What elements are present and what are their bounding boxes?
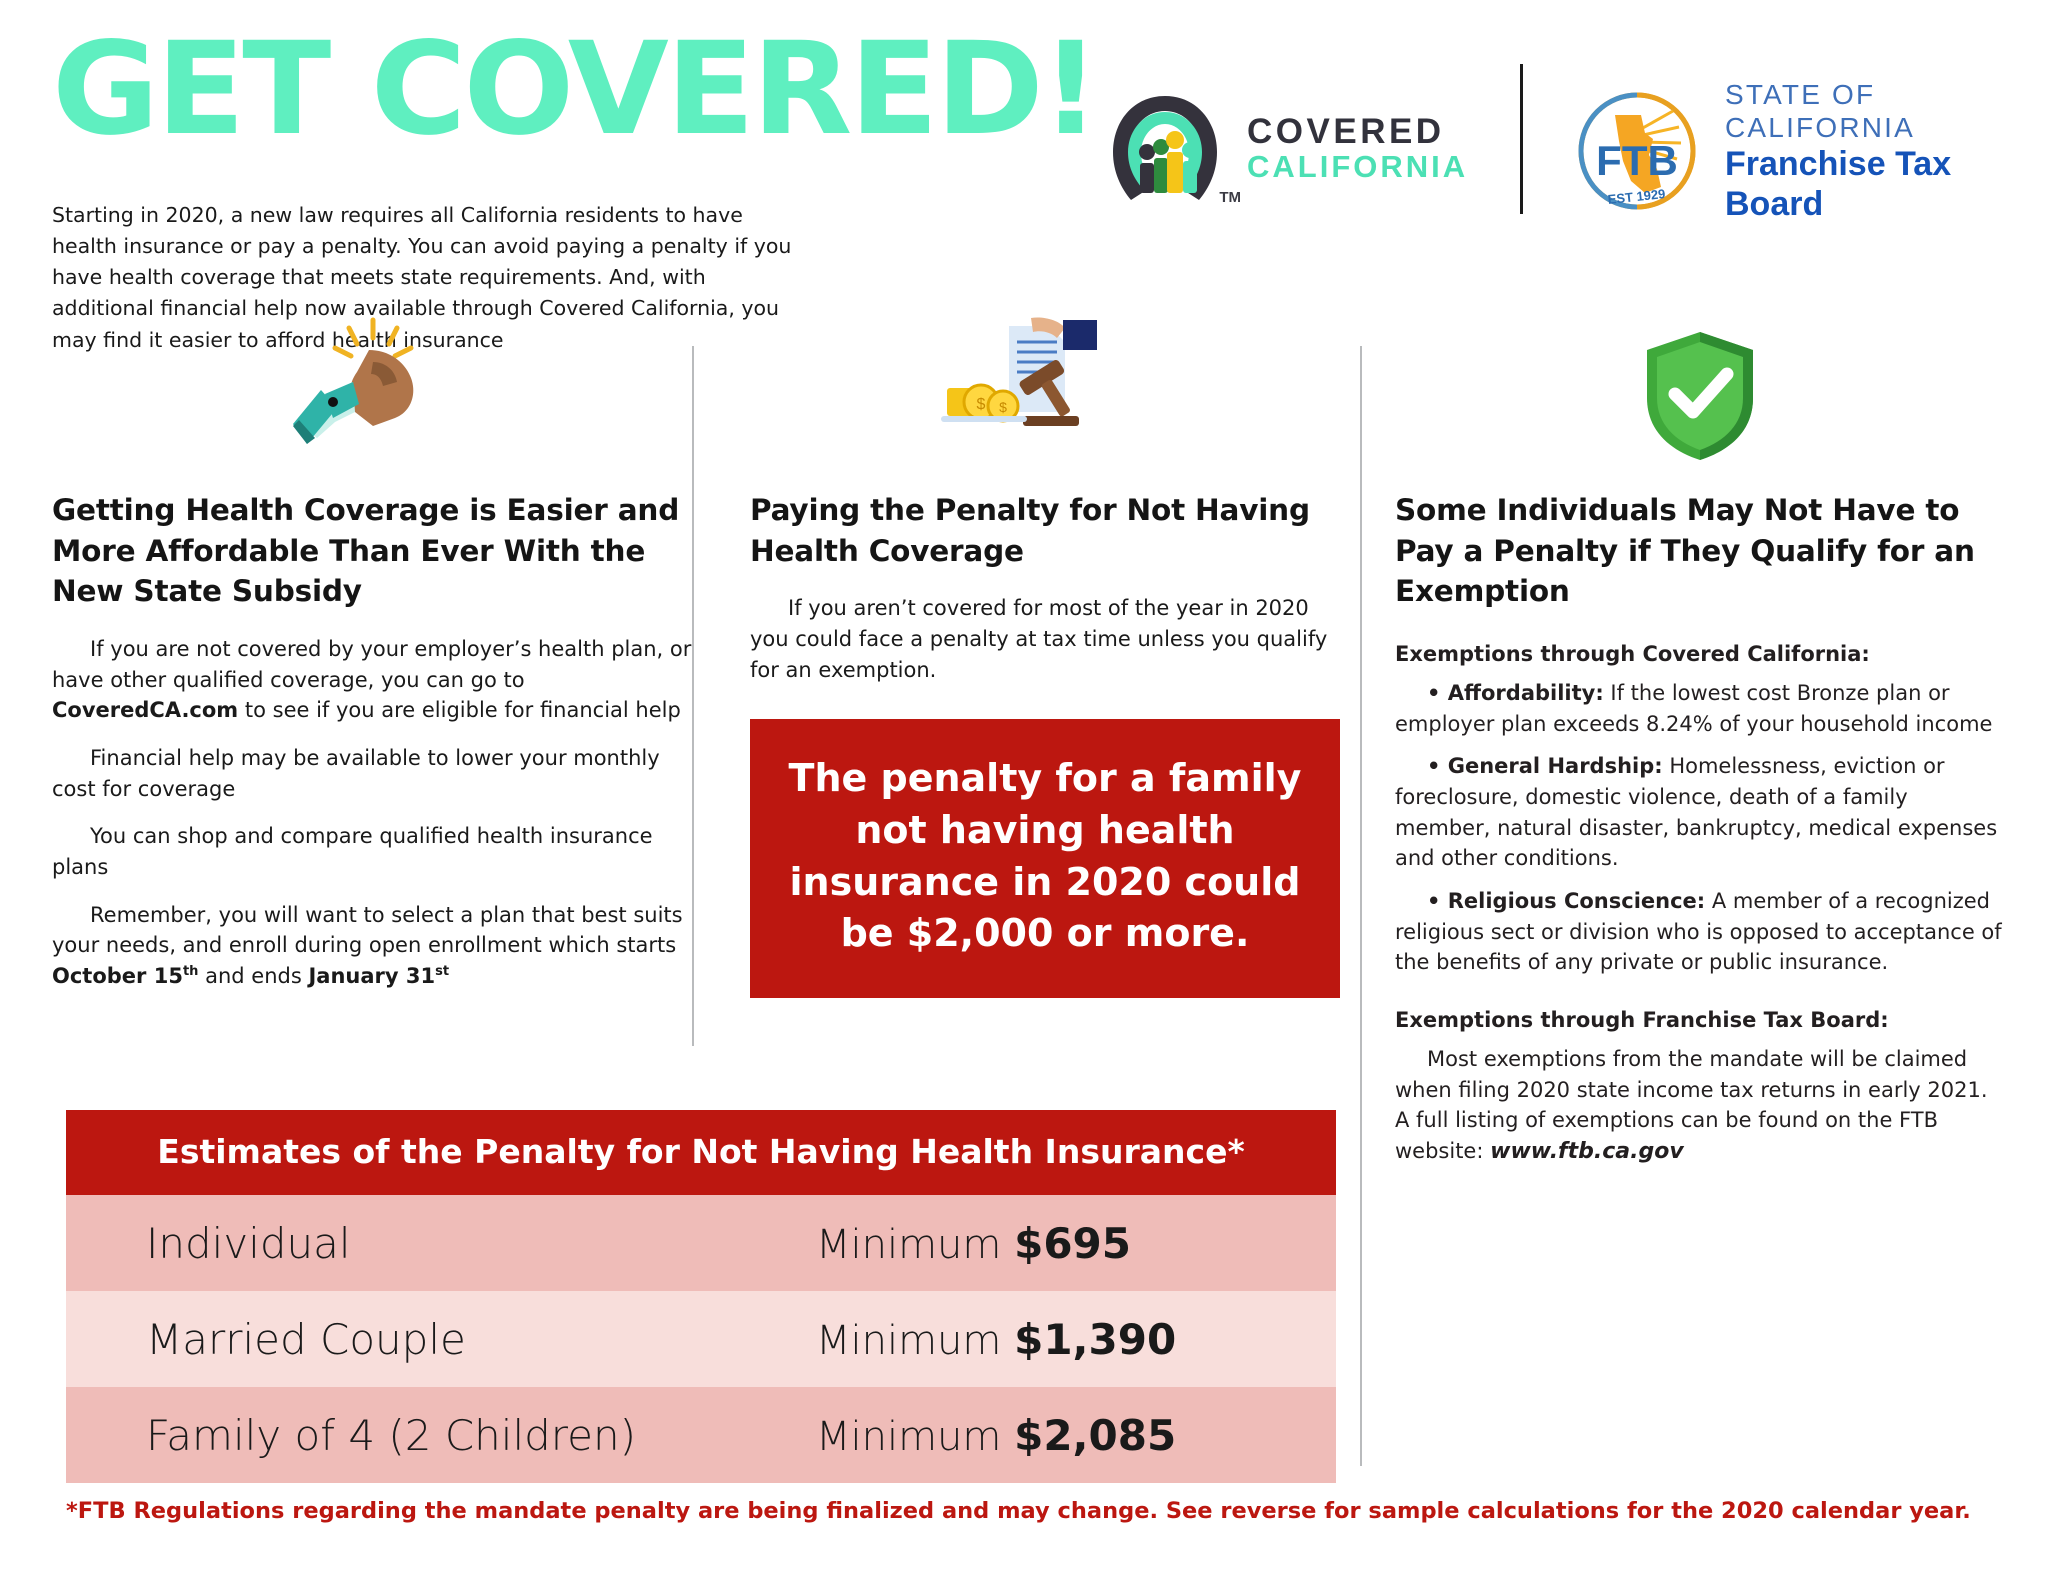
exemption-bullet: • Affordability: If the lowest cost Bron… [1395, 678, 2005, 739]
covered-california-wordmark: COVERED CALIFORNIA [1247, 114, 1468, 183]
table-cell-amount: Minimum $1,390 [816, 1315, 1176, 1364]
covered-california-logo: TM COVERED CALIFORNIA [1105, 60, 1468, 208]
exemption-bullet-label: • Religious Conscience: [1427, 889, 1705, 913]
table-row: IndividualMinimum $695 [66, 1195, 1336, 1291]
footnote: *FTB Regulations regarding the mandate p… [66, 1498, 1996, 1524]
column-coverage: Getting Health Coverage is Easier and Mo… [52, 306, 692, 992]
cc-wordmark-line2: CALIFORNIA [1247, 151, 1468, 184]
exemption-section-title: Exemptions through Covered California: [1395, 642, 2005, 666]
franchise-tax-board-logo: FTB EST 1929 STATE OF CALIFORNIA Franchi… [1575, 60, 2048, 224]
callout-line: The penalty for a family [780, 753, 1310, 805]
ftb-wordmark-line2: Franchise Tax Board [1725, 144, 2048, 224]
page-title: GET COVERED! [52, 26, 1097, 154]
body-paragraph: If you are not covered by your employer’… [52, 634, 692, 726]
ftb-wordmark-line1: STATE OF CALIFORNIA [1725, 78, 2048, 144]
exemption-section-ftb: Exemptions through Franchise Tax Board: … [1395, 1008, 2005, 1168]
exemption-bullet-label: • Affordability: [1427, 681, 1604, 705]
table-cell-category: Family of 4 (2 Children) [146, 1411, 816, 1460]
ftb-website-link[interactable]: www.ftb.ca.gov [1490, 1139, 1684, 1164]
callout-line: insurance in 2020 could [780, 857, 1310, 909]
gavel-money-document-icon: $ $ [750, 306, 1340, 466]
column-heading: Paying the Penalty for Not Having Health… [750, 490, 1340, 571]
callout-line: not having health [780, 805, 1310, 857]
amount-value: $1,390 [1014, 1315, 1176, 1364]
column-body: If you are not covered by your employer’… [52, 634, 692, 992]
column-divider-1 [692, 346, 694, 1046]
svg-text:FTB: FTB [1596, 137, 1678, 184]
table-row: Family of 4 (2 Children)Minimum $2,085 [66, 1387, 1336, 1483]
covered-california-mark-icon: TM [1105, 90, 1225, 208]
exemption-bullet: • Religious Conscience: A member of a re… [1395, 886, 2005, 978]
table-title: Estimates of the Penalty for Not Having … [66, 1110, 1336, 1195]
exemption-ftb-text: Most exemptions from the mandate will be… [1395, 1047, 1988, 1163]
column-exemptions: Some Individuals May Not Have to Pay a P… [1395, 306, 2005, 1168]
svg-text:$: $ [999, 399, 1007, 415]
table-cell-category: Individual [146, 1219, 816, 1268]
exemption-section-covered-california: Exemptions through Covered California: •… [1395, 642, 2005, 978]
trademark-label: TM [1219, 189, 1241, 206]
logo-divider [1520, 64, 1523, 214]
shield-check-icon [1395, 306, 2005, 466]
penalty-callout-lines: The penalty for a familynot having healt… [780, 753, 1310, 960]
penalty-estimates-table: Estimates of the Penalty for Not Having … [66, 1110, 1336, 1483]
table-cell-amount: Minimum $2,085 [816, 1411, 1176, 1460]
exemption-bullet: • General Hardship: Homelessness, evicti… [1395, 751, 2005, 874]
table-row: Married CoupleMinimum $1,390 [66, 1291, 1336, 1387]
column-heading: Getting Health Coverage is Easier and Mo… [52, 490, 692, 612]
penalty-callout-box: The penalty for a familynot having healt… [750, 719, 1340, 998]
amount-prefix: Minimum [816, 1414, 1014, 1460]
table-cell-amount: Minimum $695 [816, 1219, 1131, 1268]
table-body: IndividualMinimum $695Married CoupleMini… [66, 1195, 1336, 1483]
column-body: If you aren’t covered for most of the ye… [750, 593, 1340, 685]
ftb-wordmark: STATE OF CALIFORNIA Franchise Tax Board [1725, 78, 2048, 224]
amount-value: $2,085 [1014, 1411, 1176, 1460]
body-paragraph: If you aren’t covered for most of the ye… [750, 593, 1340, 685]
table-cell-category: Married Couple [146, 1315, 816, 1364]
amount-value: $695 [1014, 1219, 1131, 1268]
amount-prefix: Minimum [816, 1318, 1014, 1364]
cc-wordmark-line1: COVERED [1247, 114, 1468, 151]
page-header: GET COVERED! Starting in 2020, a new law… [0, 0, 2048, 300]
logo-row: TM COVERED CALIFORNIA [1105, 60, 2048, 224]
column-heading: Some Individuals May Not Have to Pay a P… [1395, 490, 2005, 612]
exemption-bullet-label: • General Hardship: [1427, 754, 1663, 778]
ftb-seal-icon: FTB EST 1929 [1575, 89, 1699, 213]
amount-prefix: Minimum [816, 1222, 1014, 1268]
infographic-page: GET COVERED! Starting in 2020, a new law… [0, 0, 2048, 1582]
callout-line: be $2,000 or more. [780, 908, 1310, 960]
column-divider-2 [1360, 346, 1362, 1466]
svg-text:$: $ [977, 396, 986, 413]
body-paragraph: You can shop and compare qualified healt… [52, 821, 692, 882]
column-penalty: $ $ Paying the Penalty for Not Having He… [750, 306, 1340, 998]
exemption-section-title: Exemptions through Franchise Tax Board: [1395, 1008, 2005, 1032]
hand-snap-icon [52, 306, 692, 466]
exemption-ftb-body: Most exemptions from the mandate will be… [1395, 1044, 2005, 1168]
body-paragraph: Remember, you will want to select a plan… [52, 900, 692, 992]
exemption-bullet-list: • Affordability: If the lowest cost Bron… [1395, 678, 2005, 978]
body-paragraph: Financial help may be available to lower… [52, 743, 692, 804]
